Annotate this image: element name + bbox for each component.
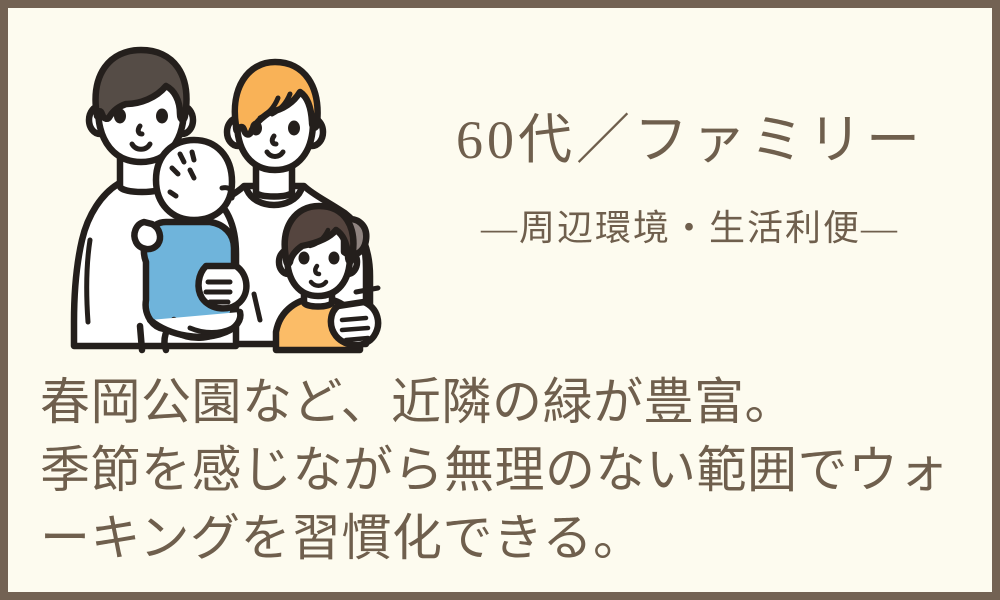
- page-title: 60代／ファミリー: [412, 112, 968, 169]
- father-eye-left: [114, 109, 126, 124]
- heading-block: 60代／ファミリー ―周辺環境・生活利便―: [412, 112, 968, 248]
- info-card: 60代／ファミリー ―周辺環境・生活利便― 春岡公園など、近隣の緑が豊富。 季節…: [0, 0, 1000, 600]
- mother-finger-1: [342, 318, 366, 320]
- body-copy: 春岡公園など、近隣の緑が豊富。 季節を感じながら無理のない範囲でウォ ーキングを…: [40, 368, 970, 572]
- father-eye-right: [156, 109, 168, 124]
- body-line: 季節を感じながら無理のない範囲でウォ: [40, 436, 970, 504]
- card-inner: 60代／ファミリー ―周辺環境・生活利便― 春岡公園など、近隣の緑が豊富。 季節…: [8, 8, 992, 592]
- child-eye-right: [329, 252, 340, 265]
- baby-hand: [134, 222, 160, 249]
- mother-finger-2: [342, 328, 368, 330]
- child-eye-left: [299, 252, 310, 265]
- family-illustration: [40, 44, 396, 356]
- father-cuff: [140, 326, 142, 350]
- family-illustration-svg: [40, 44, 396, 356]
- baby-hair-2: [192, 152, 194, 160]
- mother-eye-left: [250, 121, 262, 136]
- mother-finger-3: [346, 338, 368, 340]
- baby-hair-5: [170, 192, 176, 196]
- page-subtitle: ―周辺環境・生活利便―: [412, 209, 968, 249]
- body-line: ーキングを習慣化できる。: [40, 504, 970, 572]
- mother-eye-right: [288, 121, 300, 136]
- body-line: 春岡公園など、近隣の緑が豊富。: [40, 368, 970, 436]
